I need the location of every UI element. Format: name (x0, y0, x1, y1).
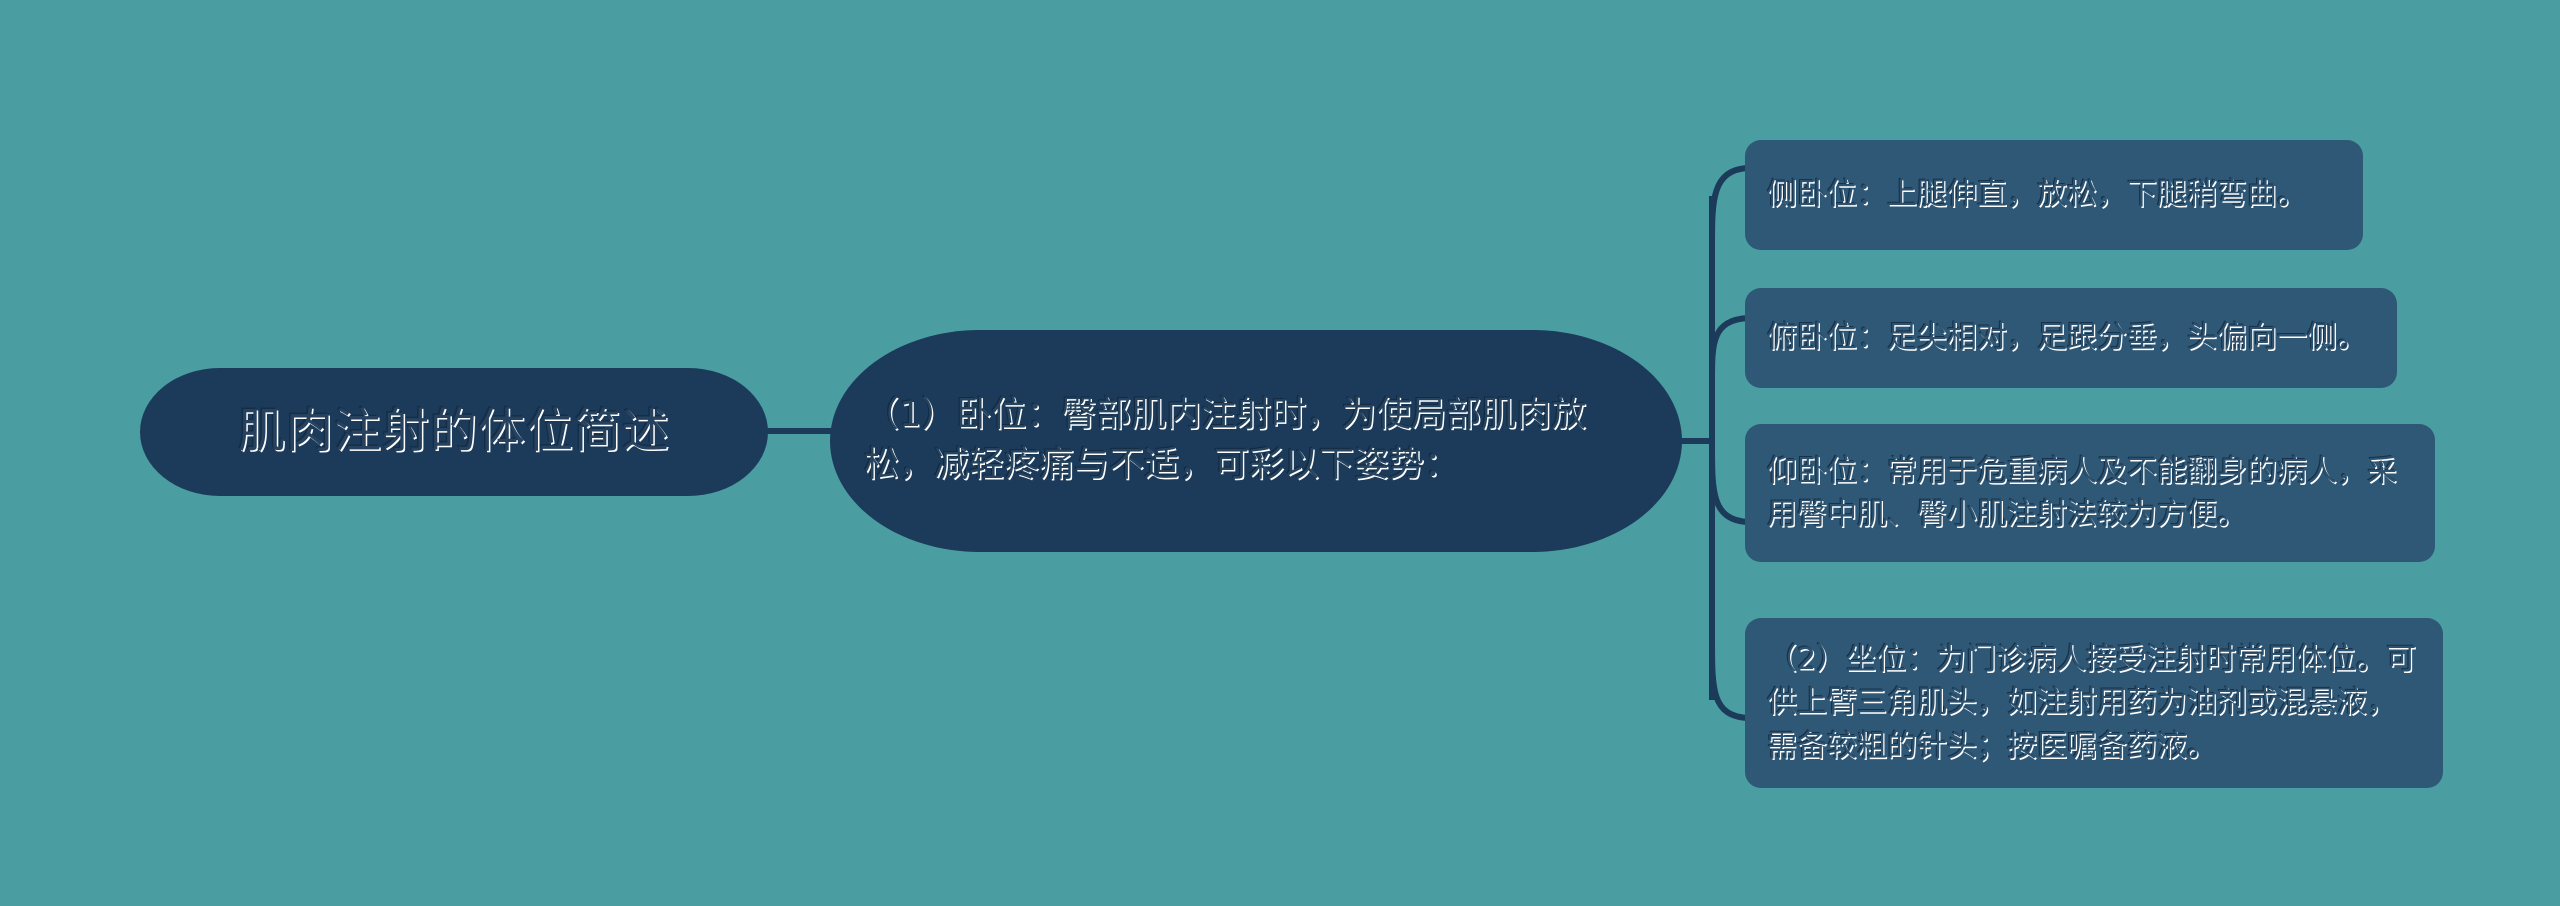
branch-node-lying-position[interactable]: （1）卧位：臀部肌内注射时，为使局部肌肉放松，减轻疼痛与不适，可彩以下姿势： (830, 330, 1682, 552)
leaf-node-label: 俯卧位：足尖相对，足跟分垂，头偏向一侧。 (1767, 316, 2375, 360)
connector-trunk-to-leaf-1 (1712, 318, 1748, 380)
leaf-node-label: （2）坐位：为门诊病人接受注射时常用体位。可供上臂三角肌头，如注射用药为油剂或混… (1767, 638, 2421, 769)
leaf-node-lateral-position[interactable]: 侧卧位：上腿伸直，放松，下腿稍弯曲。 (1745, 140, 2363, 250)
leaf-node-prone-position[interactable]: 俯卧位：足尖相对，足跟分垂，头偏向一侧。 (1745, 288, 2397, 388)
mindmap-canvas: 肌肉注射的体位简述 （1）卧位：臀部肌内注射时，为使局部肌肉放松，减轻疼痛与不适… (0, 0, 2560, 906)
root-node[interactable]: 肌肉注射的体位简述 (140, 368, 768, 496)
leaf-node-label: 仰卧位：常用于危重病人及不能翻身的病人，采用臀中肌、臀小肌注射法较为方便。 (1767, 450, 2413, 537)
leaf-node-supine-position[interactable]: 仰卧位：常用于危重病人及不能翻身的病人，采用臀中肌、臀小肌注射法较为方便。 (1745, 424, 2435, 562)
connector-trunk-to-leaf-3 (1712, 640, 1748, 718)
root-node-label: 肌肉注射的体位简述 (140, 403, 768, 462)
connector-trunk-to-leaf-2 (1712, 446, 1748, 522)
branch-node-label: （1）卧位：臀部肌内注射时，为使局部肌肉放松，减轻疼痛与不适，可彩以下姿势： (864, 391, 1648, 490)
connector-trunk-to-leaf-0 (1712, 168, 1748, 246)
leaf-node-label: 侧卧位：上腿伸直，放松，下腿稍弯曲。 (1767, 173, 2341, 217)
leaf-node-sitting-position[interactable]: （2）坐位：为门诊病人接受注射时常用体位。可供上臂三角肌头，如注射用药为油剂或混… (1745, 618, 2443, 788)
